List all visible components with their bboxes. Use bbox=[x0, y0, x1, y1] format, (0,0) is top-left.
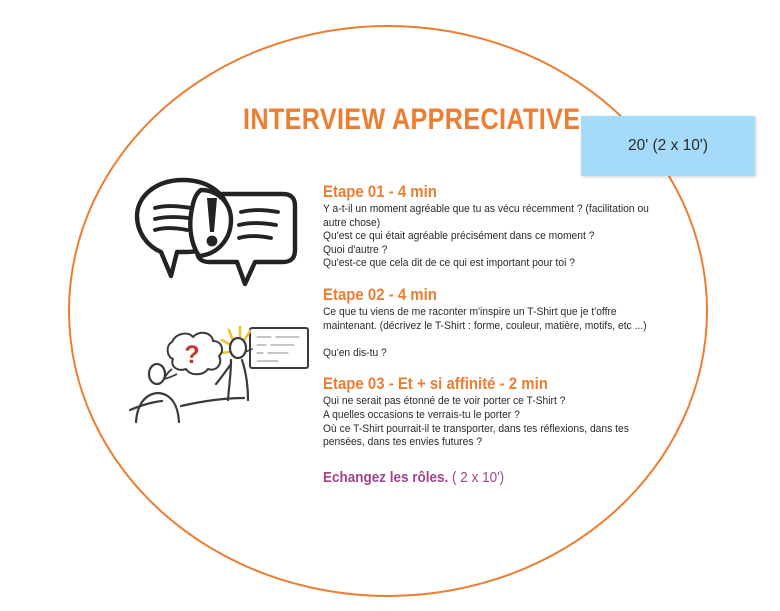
step-1-body: Y a-t-il un moment agréable que tu as vé… bbox=[323, 203, 662, 271]
duration-badge-label: 20' (2 x 10') bbox=[628, 137, 708, 155]
people-discussion-illustration: ? bbox=[128, 322, 314, 426]
step-2-line-1: Ce que tu viens de me raconter m'inspire… bbox=[323, 306, 662, 320]
closing-note: Echangez les rôles. ( 2 x 10') bbox=[323, 468, 629, 487]
step-1-line-5: Qu'est-ce que cela dit de ce qui est imp… bbox=[323, 257, 662, 271]
step-1-heading: Etape 01 - 4 min bbox=[323, 182, 622, 202]
step-1-line-4: Quoi d'autre ? bbox=[323, 244, 662, 258]
steps-content: Etape 01 - 4 min Y a-t-il un moment agré… bbox=[323, 182, 663, 487]
closing-note-strong: Echangez les rôles. bbox=[323, 469, 448, 486]
step-3-line-4: pensées, dans tes envies futures ? bbox=[323, 436, 662, 450]
svg-text:?: ? bbox=[184, 341, 199, 369]
step-3-line-2: A quelles occasions te verrais-tu le por… bbox=[323, 409, 662, 423]
step-3-body: Qui ne serait pas étonné de te voir port… bbox=[323, 395, 662, 449]
speech-bubbles-illustration bbox=[133, 172, 305, 292]
slide-canvas: INTERVIEW APPRECIATIVE 20' (2 x 10') bbox=[0, 0, 780, 611]
step-3-line-1: Qui ne serait pas étonné de te voir port… bbox=[323, 395, 662, 409]
step-2-body: Ce que tu viens de me raconter m'inspire… bbox=[323, 306, 662, 360]
step-item-2: Etape 02 - 4 min Ce que tu viens de me r… bbox=[323, 285, 663, 360]
step-1-line-1: Y a-t-il un moment agréable que tu as vé… bbox=[323, 203, 662, 217]
step-3-heading: Etape 03 - Et + si affinité - 2 min bbox=[323, 374, 622, 394]
step-item-3: Etape 03 - Et + si affinité - 2 min Qui … bbox=[323, 374, 663, 449]
step-item-1: Etape 01 - 4 min Y a-t-il un moment agré… bbox=[323, 182, 663, 271]
step-1-line-3: Qu'est ce qui était agréable précisément… bbox=[323, 230, 662, 244]
step-2-line-2: maintenant. (décrivez le T-Shirt : forme… bbox=[323, 320, 662, 334]
closing-note-extra: ( 2 x 10') bbox=[448, 469, 504, 486]
step-2-line-4: Qu'en dis-tu ? bbox=[323, 347, 662, 361]
step-2-line-3 bbox=[323, 333, 662, 347]
page-title: INTERVIEW APPRECIATIVE bbox=[243, 103, 596, 137]
step-2-heading: Etape 02 - 4 min bbox=[323, 285, 622, 305]
duration-badge: 20' (2 x 10') bbox=[581, 116, 755, 176]
step-3-line-3: Où ce T-Shirt pourrait-il te transporter… bbox=[323, 423, 662, 437]
step-1-line-2: autre chose) bbox=[323, 217, 662, 231]
